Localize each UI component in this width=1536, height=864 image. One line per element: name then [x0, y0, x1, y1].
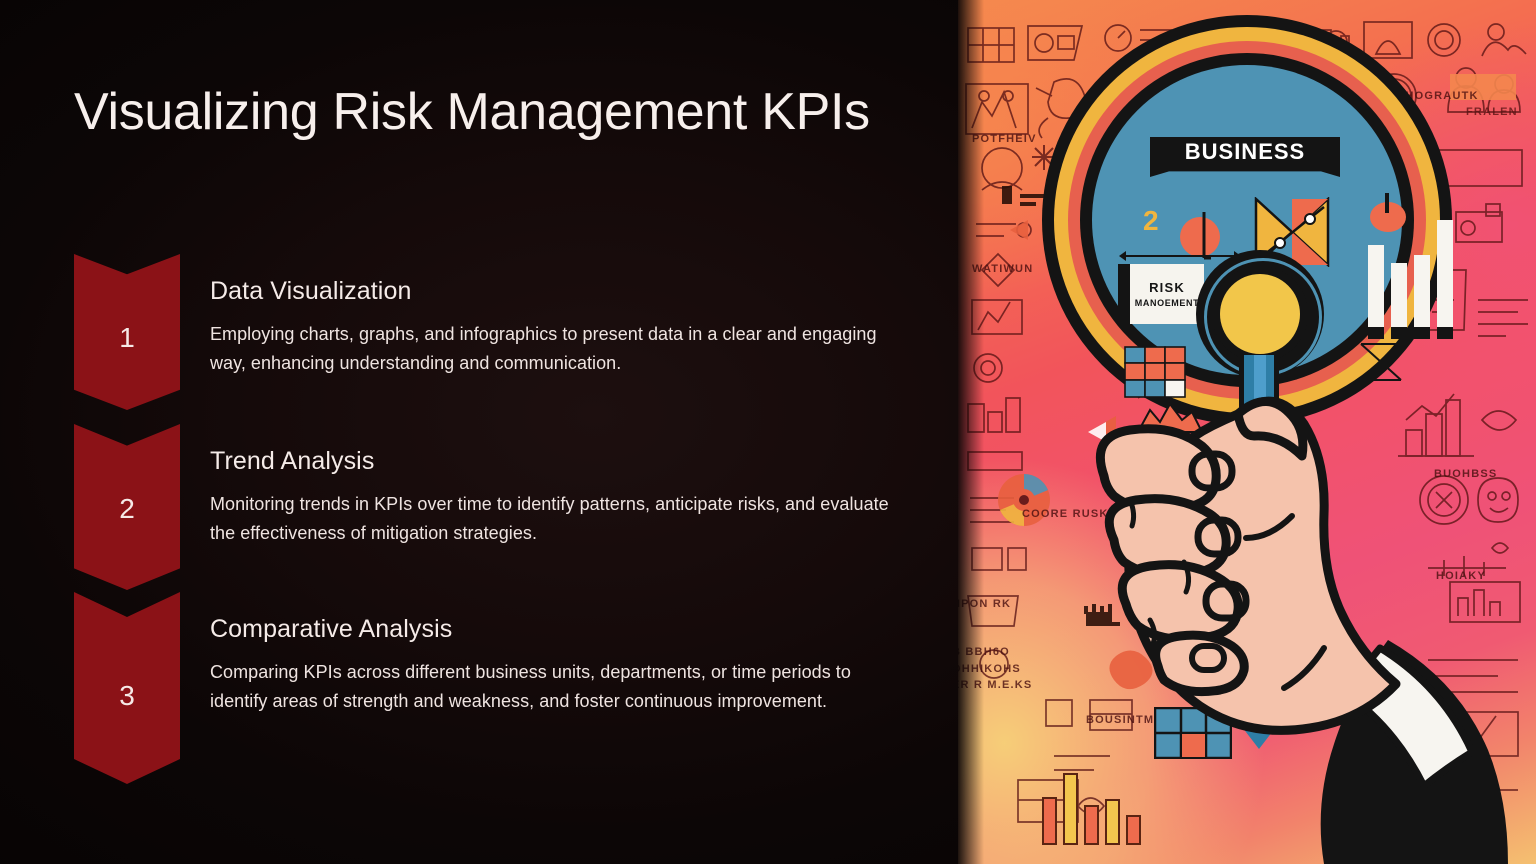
chevron-number: 3 [119, 682, 135, 710]
doodle-label: FRALEN [1466, 106, 1518, 118]
callout-number: 2 [1143, 205, 1159, 237]
hand-holding-magnifier [1088, 390, 1518, 864]
risk-management-illustration: POTFHEIV WATIWUN COORE RUSK HPON RK B BB… [958, 0, 1536, 864]
list-item-heading: Trend Analysis [210, 446, 900, 476]
kpi-item-list: 1 Data Visualization Employing charts, g… [0, 0, 960, 864]
list-item-body: Data Visualization Employing charts, gra… [210, 276, 900, 378]
list-item-heading: Comparative Analysis [210, 614, 900, 644]
slide: Visualizing Risk Management KPIs 1 Data … [0, 0, 1536, 864]
list-item-description: Employing charts, graphs, and infographi… [210, 320, 900, 378]
chevron-badge-1: 1 [74, 254, 180, 410]
chevron-number: 1 [119, 324, 135, 352]
illustration-left-fade [958, 0, 984, 864]
risk-card-subtitle: MANOEMENT [1135, 298, 1199, 308]
business-banner: BUSINESS [1150, 137, 1340, 177]
list-item-heading: Data Visualization [210, 276, 900, 306]
list-item-description: Monitoring trends in KPIs over time to i… [210, 490, 900, 548]
business-banner-label: BUSINESS [1185, 137, 1305, 167]
risk-card-title: RISK [1149, 280, 1185, 295]
chevron-number: 2 [119, 495, 135, 523]
risk-management-card: RISK MANOEMENT [1118, 264, 1204, 324]
chevron-badge-2: 2 [74, 424, 180, 590]
list-item-body: Comparative Analysis Comparing KPIs acro… [210, 614, 900, 716]
lens-bar-chart [1368, 215, 1454, 339]
list-item-body: Trend Analysis Monitoring trends in KPIs… [210, 446, 900, 548]
hourglass-icon [1358, 342, 1404, 382]
list-item-description: Comparing KPIs across different business… [210, 658, 900, 716]
chevron-badge-3: 3 [74, 592, 180, 784]
gauge-needle-icon [1385, 193, 1389, 213]
